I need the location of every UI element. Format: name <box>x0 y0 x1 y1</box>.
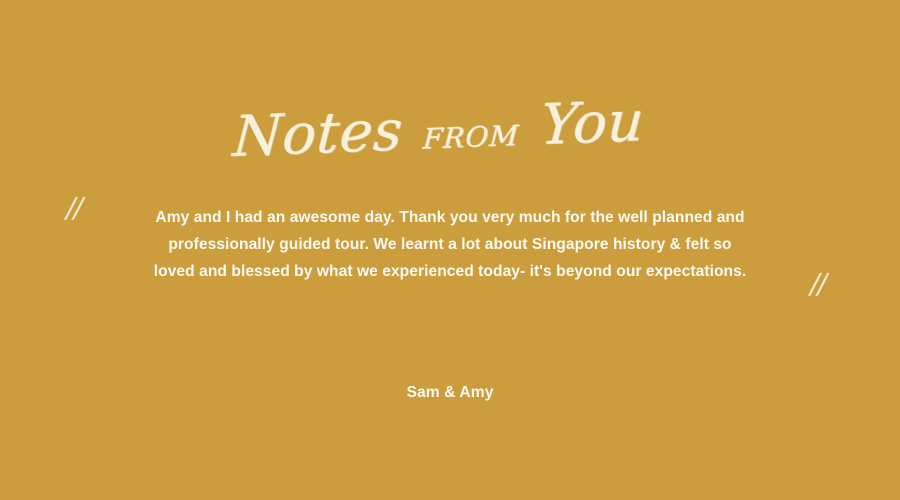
heading-container: Notes from You <box>0 84 900 176</box>
quote-line: professionally guided tour. We learnt a … <box>70 231 830 258</box>
quote-line: loved and blessed by what we experienced… <box>70 258 830 285</box>
heading-word-from: from <box>418 109 525 159</box>
quote-text: Amy and I had an awesome day. Thank you … <box>70 204 830 285</box>
quote-close-icon: // <box>810 268 825 302</box>
heading-word-notes: Notes <box>231 98 405 170</box>
testimonial-card: Notes from You // Amy and I had an aweso… <box>0 0 900 500</box>
page-title: Notes from You <box>232 94 647 166</box>
quote-attribution: Sam & Amy <box>0 383 900 403</box>
quote-line: Amy and I had an awesome day. Thank you … <box>70 204 830 231</box>
heading-word-you: You <box>539 89 647 158</box>
